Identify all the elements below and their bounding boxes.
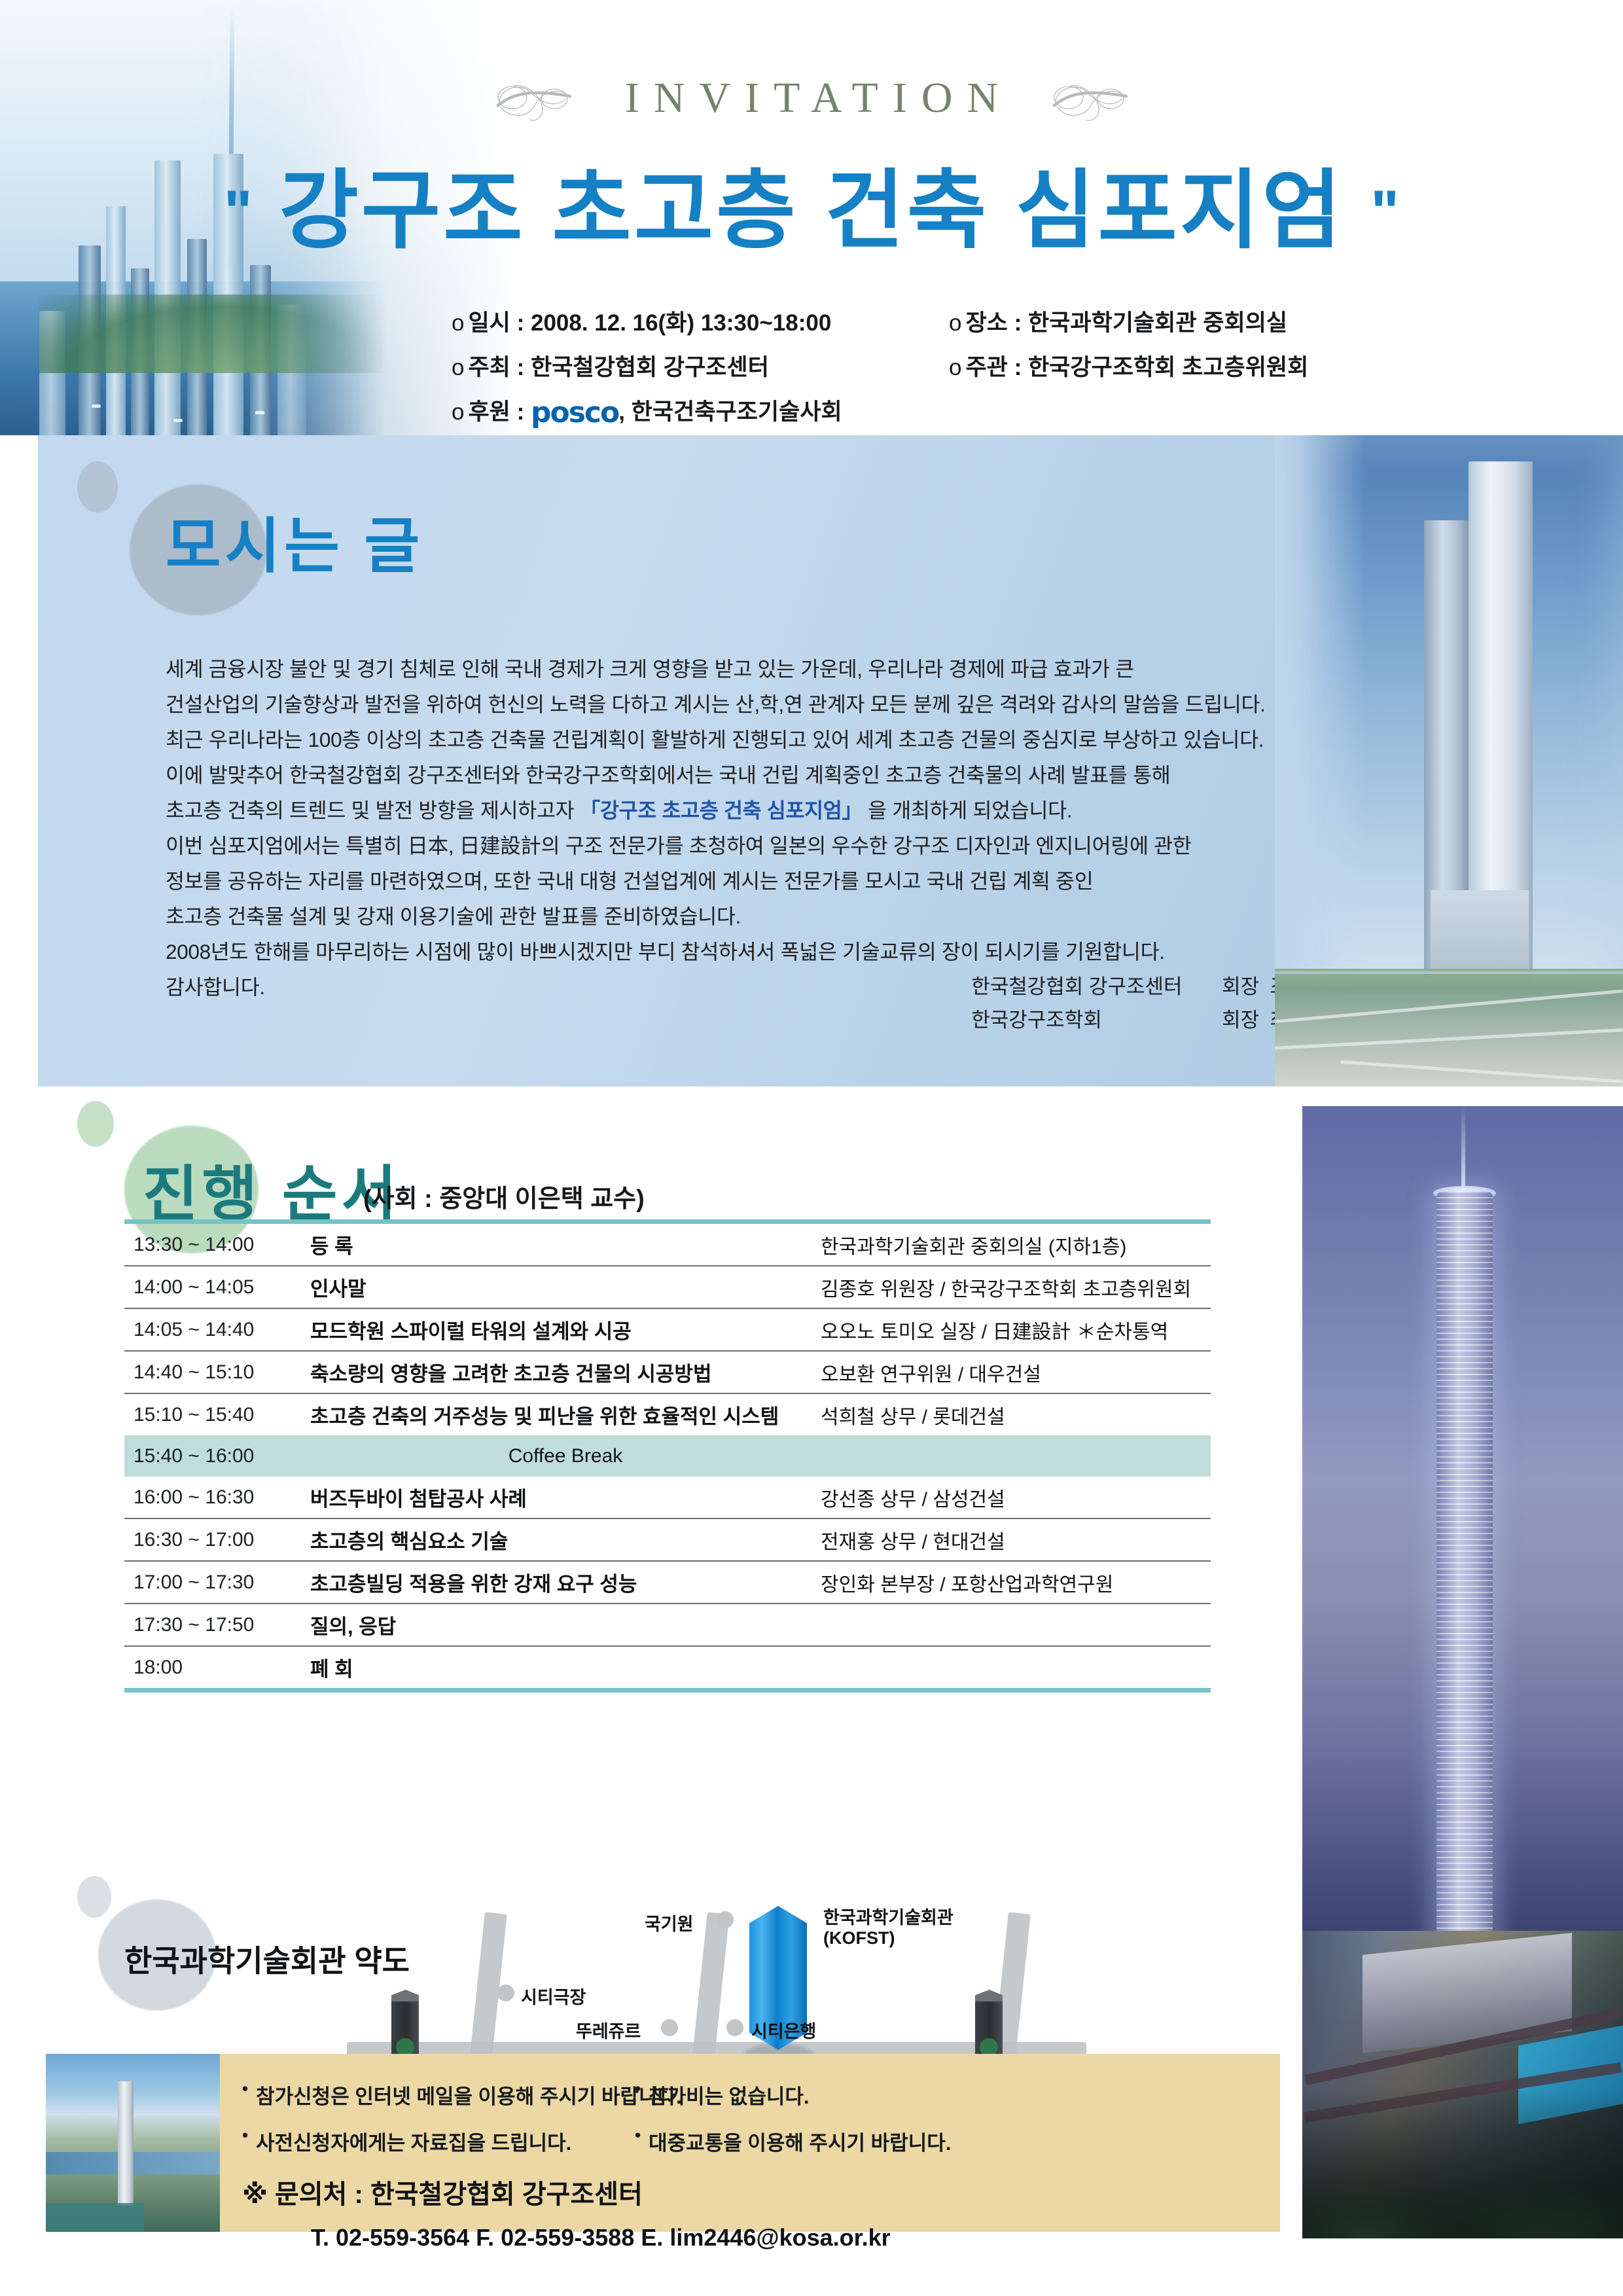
horizon-line <box>1275 971 1623 974</box>
lake <box>46 2203 144 2232</box>
twin-tower-render-image <box>1275 435 1623 1086</box>
row-speaker: 김종호 위원장 / 한국강구조학회 초고층위원회 <box>821 1273 1211 1302</box>
contact-detail: T. 02-559-3564 F. 02-559-3588 E. lim2446… <box>311 2224 1280 2251</box>
greeting-title: 모시는 글 <box>166 497 423 584</box>
supertall-tower <box>1436 1191 1493 1996</box>
program-moderator: (사회 : 중앙대 이은택 교수) <box>363 1178 645 1214</box>
info-date: o일시 : 2008. 12. 16(화) 13:30~18:00 <box>452 304 949 338</box>
info-venue-label: 장소 : 한국과학기술회관 중회의실 <box>965 310 1287 336</box>
table-row[interactable]: 17:30 ~ 17:50 질의, 응답 <box>124 1604 1211 1647</box>
note-item: •참가비는 없습니다. <box>635 2080 810 2109</box>
row-speaker: 오오노 토미오 실장 / 日建設計 ＊순차통역 <box>821 1316 1211 1344</box>
row-title: 인사말 <box>310 1272 821 1302</box>
table-row-coffee-break[interactable]: 15:40 ~ 16:00 Coffee Break <box>124 1435 1211 1477</box>
boat <box>173 419 183 422</box>
bullet-marker: o <box>949 355 961 380</box>
header-info-row: o후원 : posco, 한국건축구조기술사회 <box>452 393 1564 429</box>
note-text: 참가신청은 인터넷 메일을 이용해 주시기 바랍니다. <box>256 2080 682 2109</box>
notes-row: •사전신청자에게는 자료집을 드립니다. •대중교통을 이용해 주시기 바랍니다… <box>242 2126 1280 2156</box>
notes-row: •참가신청은 인터넷 메일을 이용해 주시기 바랍니다. •참가비는 없습니다. <box>242 2080 1280 2109</box>
row-speaker: 오보환 연구위원 / 대우건설 <box>821 1358 1211 1387</box>
tower <box>118 2081 134 2206</box>
table-row[interactable]: 14:40 ~ 15:10 축소량의 영향을 고려한 초고층 건물의 시공방법 … <box>124 1352 1211 1394</box>
night-tower-render-image <box>1302 1106 1623 2238</box>
row-time: 18:00 <box>124 1657 310 1679</box>
table-row[interactable]: 14:05 ~ 14:40 모드학원 스파이럴 타워의 설계와 시공 오오노 토… <box>124 1309 1211 1352</box>
schedule-table: 13:30 ~ 14:00 등 록 한국과학기술회관 중회의실 (지하1층) 1… <box>124 1219 1211 1693</box>
bullet-marker: o <box>949 310 961 336</box>
greeting-paragraph: 이에 발맞추어 한국철강협회 강구조센터와 한국강구조학회에서는 국내 건립 계… <box>166 757 1226 793</box>
quote-close: " <box>1370 179 1399 245</box>
invitation-label: INVITATION <box>611 73 1012 123</box>
row-time: 13:30 ~ 14:00 <box>124 1234 310 1256</box>
row-time: 17:30 ~ 17:50 <box>124 1614 310 1636</box>
row-speaker: 강선종 상무 / 삼성건설 <box>821 1483 1211 1512</box>
info-host: o주최 : 한국철강협회 강구조센터 <box>452 349 949 382</box>
info-organizer: o주관 : 한국강구조학회 초고층위원회 <box>949 349 1446 382</box>
header-info-row: o일시 : 2008. 12. 16(화) 13:30~18:00 o장소 : … <box>452 304 1564 338</box>
header-info-list: o일시 : 2008. 12. 16(화) 13:30~18:00 o장소 : … <box>452 304 1564 440</box>
highlight-after: 을 개최하게 되었습니다. <box>863 798 1073 822</box>
bullet-icon: • <box>242 2080 248 2097</box>
flourish-ornament-right-icon <box>1050 70 1129 126</box>
info-venue: o장소 : 한국과학기술회관 중회의실 <box>949 304 1446 338</box>
row-title: 초고층의 핵심요소 기술 <box>310 1525 821 1554</box>
map-title: 한국과학기술회관 약도 <box>124 1937 410 1981</box>
table-row[interactable]: 13:30 ~ 14:00 등 록 한국과학기술회관 중회의실 (지하1층) <box>124 1224 1211 1266</box>
info-date-label: 일시 : 2008. 12. 16(화) 13:30~18:00 <box>468 310 831 336</box>
table-top-rule <box>124 1219 1211 1224</box>
map-label-tous-les-jours: 뚜레쥬르 <box>576 2017 641 2043</box>
note-text: 참가비는 없습니다. <box>649 2080 809 2109</box>
map-label-kofst-line1: 한국과학기술회관 <box>823 1903 954 1929</box>
lotte-tower-thumbnail-image <box>46 2054 220 2232</box>
greeting-paragraph: 건설산업의 기술향상과 발전을 위하여 헌신의 노력을 다하고 계시는 산,학,… <box>166 687 1226 722</box>
map-label-city-theater: 시티극장 <box>521 1983 586 2009</box>
greeting-paragraph: 세계 금융시장 불안 및 경기 침체로 인해 국내 경제가 크게 영향을 받고 … <box>166 651 1226 687</box>
contact-line: ※ 문의처 : 한국철강협회 강구조센터 <box>242 2173 1280 2211</box>
quote-open: " <box>224 179 253 245</box>
note-item: •사전신청자에게는 자료집을 드립니다. <box>242 2126 635 2156</box>
row-title: Coffee Break <box>310 1445 821 1467</box>
symposium-title-highlight: 「강구조 초고층 건축 심포지엄」 <box>580 798 863 822</box>
reference-mark-icon: ※ <box>242 2180 268 2209</box>
bullet-icon: • <box>242 2126 248 2144</box>
info-organizer-label: 주관 : 한국강구조학회 초고층위원회 <box>965 355 1308 380</box>
row-time: 16:00 ~ 16:30 <box>124 1486 310 1509</box>
boat <box>255 411 264 414</box>
greeting-section: 모시는 글 세계 금융시장 불안 및 경기 침체로 인해 국내 경제가 크게 영… <box>38 435 1623 1086</box>
map-point <box>717 1911 734 1928</box>
info-sponsor-suffix: , 한국건축구조기술사회 <box>618 399 842 425</box>
greeting-paragraph: 최근 우리나라는 100층 이상의 초고층 건축물 건립계획이 활발하게 진행되… <box>166 722 1226 757</box>
map-point <box>497 1984 514 2001</box>
row-title: 폐 회 <box>310 1653 821 1682</box>
map-label-gukgiwon: 국기원 <box>645 1910 694 1935</box>
row-speaker: 석희철 상무 / 롯데건설 <box>821 1401 1211 1429</box>
invitation-banner: INVITATION <box>0 62 1623 134</box>
greeting-paragraph: 이번 심포지엄에서는 특별히 日本, 日建設計의 구조 전문가를 초청하여 일본… <box>166 828 1226 863</box>
row-speaker: 한국과학기술회관 중회의실 (지하1층) <box>821 1230 1211 1259</box>
signature-title: 회장 <box>1212 1003 1259 1033</box>
table-bottom-rule <box>124 1688 1211 1693</box>
row-speaker: 전재홍 상무 / 현대건설 <box>821 1526 1211 1554</box>
signature-org: 한국강구조학회 <box>971 1003 1202 1033</box>
map-label-citibank: 시티은행 <box>751 2017 816 2043</box>
row-time: 17:00 ~ 17:30 <box>124 1571 310 1594</box>
contact-label: 문의처 : 한국철강협회 강구조센터 <box>275 2180 643 2209</box>
greeting-paragraph: 정보를 공유하는 자리를 마련하였으며, 또한 국내 대형 건설업계에 계시는 … <box>166 863 1226 899</box>
header-section: INVITATION " 강구조 초고층 건축 심포지엄 " o일시 : 200… <box>0 0 1623 435</box>
row-time: 15:40 ~ 16:00 <box>124 1445 310 1467</box>
decorative-blob-small <box>77 461 118 512</box>
footer-content: •참가신청은 인터넷 메일을 이용해 주시기 바랍니다. •참가비는 없습니다.… <box>242 2054 1280 2232</box>
signature-title: 회장 <box>1212 970 1259 999</box>
row-time: 15:10 ~ 15:40 <box>124 1404 310 1426</box>
table-row[interactable]: 16:30 ~ 17:00 초고층의 핵심요소 기술 전재홍 상무 / 현대건설 <box>124 1519 1211 1562</box>
row-title: 축소량의 영향을 고려한 초고층 건물의 시공방법 <box>310 1357 821 1387</box>
row-title: 초고층 건축의 거주성능 및 피난을 위한 효율적인 시스템 <box>310 1400 821 1429</box>
table-row[interactable]: 14:00 ~ 14:05 인사말 김종호 위원장 / 한국강구조학회 초고층위… <box>124 1266 1211 1309</box>
row-time: 16:30 ~ 17:00 <box>124 1529 310 1551</box>
info-host-label: 주최 : 한국철강협회 강구조센터 <box>468 355 768 380</box>
greeting-highlight-paragraph: 초고층 건축의 트렌드 및 발전 방향을 제시하고자 「강구조 초고층 건축 심… <box>166 793 1226 828</box>
row-time: 14:40 ~ 15:10 <box>124 1361 310 1384</box>
row-time: 14:00 ~ 14:05 <box>124 1276 310 1299</box>
table-row[interactable]: 15:10 ~ 15:40 초고층 건축의 거주성능 및 피난을 위한 효율적인… <box>124 1394 1211 1435</box>
table-row[interactable]: 17:00 ~ 17:30 초고층빌딩 적용을 위한 강재 요구 성능 장인화 … <box>124 1562 1211 1604</box>
posco-logo: posco <box>531 396 618 429</box>
page-title-text: 강구조 초고층 건축 심포지엄 <box>279 162 1344 259</box>
bullet-marker: o <box>452 310 464 336</box>
bullet-marker: o <box>452 355 464 380</box>
row-title: 초고층빌딩 적용을 위한 강재 요구 성능 <box>310 1568 821 1597</box>
tree-canopy <box>1302 2088 1623 2238</box>
green-landscape <box>39 295 406 373</box>
header-info-row: o주최 : 한국철강협회 강구조센터 o주관 : 한국강구조학회 초고층위원회 <box>452 349 1564 382</box>
bullet-icon: • <box>635 2126 641 2144</box>
map-label-kofst-line2: (KOFST) <box>823 1928 895 1948</box>
table-row[interactable]: 16:00 ~ 16:30 버즈두바이 첨탑공사 사례 강선종 상무 / 삼성건… <box>124 1477 1211 1519</box>
highlight-before: 초고층 건축의 트렌드 및 발전 방향을 제시하고자 <box>166 798 580 822</box>
decorative-blob-small <box>77 1876 111 1918</box>
bullet-marker: o <box>452 399 464 425</box>
row-time: 14:05 ~ 14:40 <box>124 1319 310 1341</box>
row-title: 모드학원 스파이럴 타워의 설계와 시공 <box>310 1315 821 1344</box>
greeting-paragraph: 초고층 건축물 설계 및 강재 이용기술에 관한 발표를 준비하였습니다. <box>166 899 1226 934</box>
note-text: 대중교통을 이용해 주시기 바랍니다. <box>649 2126 951 2156</box>
row-title: 버즈두바이 첨탑공사 사례 <box>310 1482 821 1512</box>
note-item: •참가신청은 인터넷 메일을 이용해 주시기 바랍니다. <box>242 2080 635 2109</box>
map-point <box>726 2019 743 2036</box>
footer-section: •참가신청은 인터넷 메일을 이용해 주시기 바랍니다. •참가비는 없습니다.… <box>46 2054 1280 2232</box>
row-speaker: 장인화 본부장 / 포항산업과학연구원 <box>821 1568 1211 1597</box>
map-point <box>661 2019 678 2036</box>
notes-list: •참가신청은 인터넷 메일을 이용해 주시기 바랍니다. •참가비는 없습니다.… <box>242 2054 1280 2156</box>
signature-org: 한국철강협회 강구조센터 <box>971 970 1202 999</box>
bullet-icon: • <box>635 2080 641 2097</box>
row-title: 등 록 <box>310 1230 821 1259</box>
note-text: 사전신청자에게는 자료집을 드립니다. <box>256 2126 571 2156</box>
table-row[interactable]: 18:00 폐 회 <box>124 1647 1211 1688</box>
flourish-ornament-left-icon <box>494 70 573 126</box>
row-title: 질의, 응답 <box>310 1610 821 1640</box>
boat <box>92 404 101 408</box>
note-item: •대중교통을 이용해 주시기 바랍니다. <box>635 2126 951 2156</box>
info-sponsor-prefix: 후원 : <box>468 399 531 425</box>
info-sponsor: o후원 : posco, 한국건축구조기술사회 <box>452 393 1368 429</box>
page-title: " 강구조 초고층 건축 심포지엄 " <box>0 141 1623 266</box>
decorative-blob-small <box>77 1101 114 1147</box>
